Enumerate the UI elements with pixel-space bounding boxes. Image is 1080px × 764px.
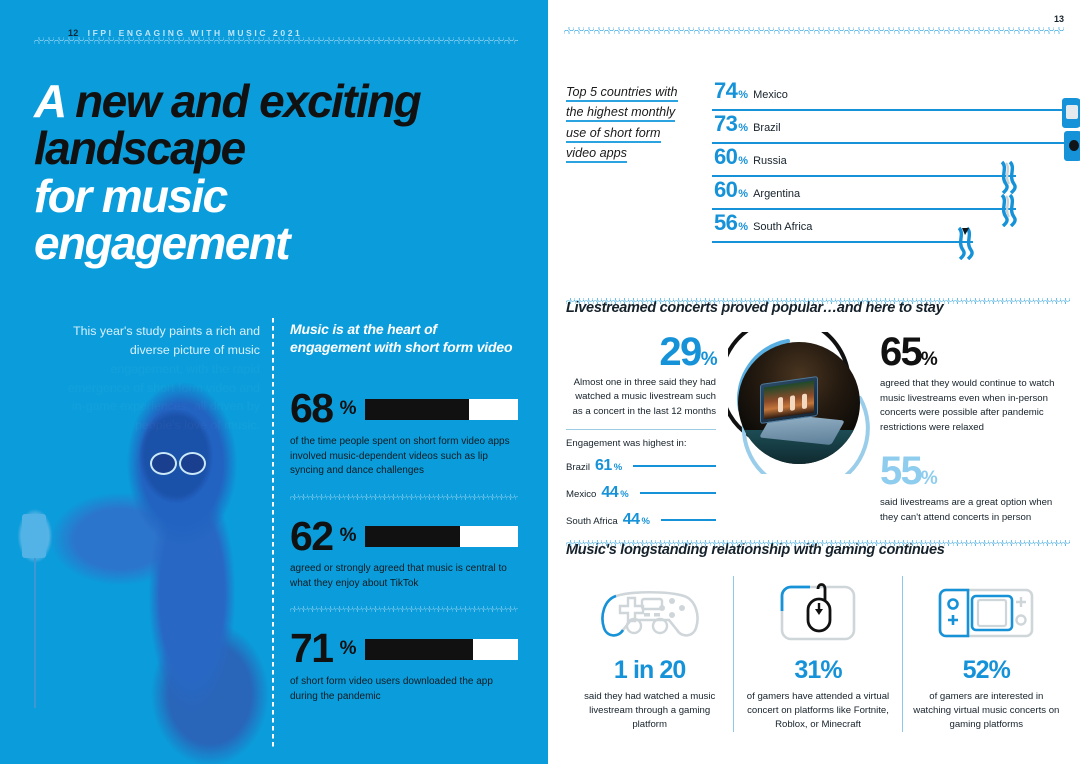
engagement-percent-sign: % (620, 489, 628, 500)
engagement-country: Brazil (566, 462, 590, 473)
earphone-cord (34, 558, 36, 708)
stat-row: 68 % (290, 390, 518, 428)
livestream-29-value: 29% (566, 332, 716, 372)
ribbon-endcap-icon (955, 226, 977, 260)
gaming-card-livestream: 1 in 20 said they had watched a music li… (566, 576, 733, 732)
livestream-55-value: 55% (880, 451, 1070, 491)
country-row-mexico: 74 % Mexico (712, 78, 1070, 111)
country-value: 56 (714, 210, 737, 236)
magazine-spread: 12 IFPI ENGAGING WITH MUSIC 2021 A new a… (0, 0, 1080, 764)
gaming-description: of gamers have attended a virtual concer… (744, 690, 891, 732)
country-name: Brazil (753, 122, 781, 134)
engagement-bar-line (633, 465, 716, 467)
stat-description: of the time people spent on short form v… (290, 435, 518, 479)
stat-row: 71 % (290, 630, 518, 668)
short-form-video-stats: Music is at the heart of engagement with… (290, 320, 518, 718)
stat-number: 55 (880, 449, 921, 493)
engagement-percent-sign: % (642, 516, 650, 527)
stat-progress-bar (365, 639, 518, 660)
country-name: Argentina (753, 188, 800, 200)
right-page-header: 13 (564, 14, 1064, 34)
stat-description: of short form video users downloaded the… (290, 675, 518, 704)
caption-line: the highest monthly (566, 105, 675, 122)
stat-progress-fill (365, 399, 469, 420)
performer-figure (802, 393, 807, 409)
stat-description: agreed or strongly agreed that music is … (290, 562, 518, 591)
stat-number: 29 (659, 330, 700, 374)
stat-wave-separator (290, 606, 518, 612)
country-value: 60 (714, 177, 737, 203)
engagement-row-brazil: Brazil 61 % (566, 457, 716, 475)
country-row-brazil: 73 % Brazil (712, 111, 1070, 144)
country-value: 73 (714, 111, 737, 137)
livestream-right-stats: 65% agreed that they would continue to w… (874, 332, 1070, 538)
left-page-header: 12 IFPI ENGAGING WITH MUSIC 2021 (34, 14, 518, 34)
country-percent-sign: % (738, 188, 748, 200)
performer-figure (790, 395, 795, 411)
livestream-29-description: Almost one in three said they had watche… (566, 376, 716, 419)
country-label: 74 % Mexico (712, 78, 1070, 104)
laptop-lid (760, 376, 818, 424)
stat-percent-sign: % (921, 468, 936, 489)
stat-value: 68 (290, 390, 333, 428)
engagement-percent-sign: % (614, 462, 622, 473)
vertical-dotted-divider (272, 318, 274, 748)
stat-progress-bar (365, 526, 518, 547)
engagement-value: 44 (601, 484, 618, 502)
stat-percent-sign: % (921, 349, 936, 370)
stat-number: 65 (880, 330, 921, 374)
stat-value: 62 (290, 518, 333, 556)
country-percent-sign: % (738, 155, 748, 167)
livestream-section: Livestreamed concerts proved popular…and… (566, 300, 1070, 538)
engagement-bar-line (661, 519, 716, 521)
livestream-65-value: 65% (880, 332, 1070, 372)
stat-percent-sign: % (340, 525, 357, 547)
section-wave-divider (566, 298, 1070, 304)
gamepad-icon (576, 576, 723, 650)
country-label: 56 % South Africa (712, 210, 1070, 236)
stat-progress-fill (365, 639, 474, 660)
ribbon-icon (955, 226, 977, 260)
engagement-value: 44 (623, 511, 640, 529)
stat-block-62: 62 % agreed or strongly agreed that musi… (290, 518, 518, 592)
section-wave-divider (566, 540, 1070, 546)
headline-line-2: landscape (34, 125, 520, 172)
caption-line: use of short form (566, 126, 661, 143)
caption-line: Top 5 countries with (566, 85, 678, 102)
gaming-description: of gamers are interested in watching vir… (913, 690, 1060, 732)
countries-bar-list: 74 % Mexico 73 % Brazil (712, 78, 1070, 243)
gaming-description: said they had watched a music livestream… (576, 690, 723, 732)
country-percent-sign: % (738, 221, 748, 233)
engagement-value: 61 (595, 457, 612, 475)
right-page: 13 Top 5 countries with the highest mont… (548, 0, 1080, 764)
livestream-55-description: said livestreams are a great option when… (880, 496, 1070, 525)
laptop-concert-photo (738, 342, 860, 464)
gaming-value: 52% (913, 656, 1060, 685)
countries-caption: Top 5 countries with the highest monthly… (566, 78, 694, 243)
stat-percent-sign: % (340, 398, 357, 420)
stat-percent-sign: % (701, 349, 716, 370)
livestream-65-description: agreed that they would continue to watch… (880, 377, 1070, 435)
stat-wave-separator (290, 494, 518, 500)
gaming-value: 1 in 20 (576, 656, 723, 685)
left-page: 12 IFPI ENGAGING WITH MUSIC 2021 A new a… (0, 0, 548, 764)
stats-kicker: Music is at the heart of engagement with… (290, 320, 518, 356)
country-name: South Africa (753, 221, 812, 233)
laptop-screen (764, 380, 814, 419)
country-percent-sign: % (738, 122, 748, 134)
country-name: Russia (753, 155, 787, 167)
engagement-title: Engagement was highest in: (566, 438, 716, 449)
header-wave-divider (564, 27, 1064, 34)
engagement-country: Mexico (566, 489, 596, 500)
engagement-row-south-africa: South Africa 44 % (566, 511, 716, 529)
country-row-russia: 60 % Russia (712, 144, 1070, 177)
thin-rule (566, 429, 716, 430)
country-value: 74 (714, 78, 737, 104)
country-label: 73 % Brazil (712, 111, 1070, 137)
livestream-left-stat: 29% Almost one in three said they had wa… (566, 332, 716, 538)
stat-block-71: 71 % of short form video users downloade… (290, 630, 518, 704)
engagement-country: South Africa (566, 516, 618, 527)
stat-progress-bar (365, 399, 518, 420)
country-value: 60 (714, 144, 737, 170)
country-name: Mexico (753, 89, 788, 101)
gaming-section: Music's longstanding relationship with g… (566, 542, 1070, 732)
headline-line-4: engagement (34, 220, 520, 267)
headline-line-3: for music (34, 173, 520, 220)
country-row-south-africa: 56 % South Africa (712, 210, 1070, 243)
engagement-row-mexico: Mexico 44 % (566, 484, 716, 502)
page-title: A new and exciting landscape for music e… (34, 78, 520, 268)
selfie-photo (0, 364, 272, 764)
stat-progress-fill (365, 526, 460, 547)
stat-block-68: 68 % of the time people spent on short f… (290, 390, 518, 478)
gaming-card-interested: 52% of gamers are interested in watching… (902, 576, 1070, 732)
country-percent-sign: % (738, 89, 748, 101)
mouse-icon (744, 576, 891, 650)
handheld-console-icon (913, 576, 1060, 650)
performer-figure (778, 397, 783, 413)
headline-line-1: A new and exciting (34, 78, 520, 125)
country-row-argentina: 60 % Argentina (712, 177, 1070, 210)
stat-value: 71 (290, 630, 333, 668)
photo-duotone-layer (0, 364, 272, 764)
stat-row: 62 % (290, 518, 518, 556)
country-bar-line (712, 241, 973, 244)
gaming-value: 31% (744, 656, 891, 685)
phone-in-hand (22, 514, 46, 558)
sunglasses-icon (150, 452, 206, 472)
header-wave-divider (34, 37, 518, 44)
page-number-right: 13 (1054, 14, 1064, 24)
top-countries-section: Top 5 countries with the highest monthly… (566, 78, 1070, 243)
stat-percent-sign: % (340, 638, 357, 660)
engagement-bar-line (640, 492, 716, 494)
livestream-photo-group (720, 332, 870, 522)
caption-line: video apps (566, 146, 627, 163)
gaming-card-virtual-concert: 31% of gamers have attended a virtual co… (733, 576, 901, 732)
